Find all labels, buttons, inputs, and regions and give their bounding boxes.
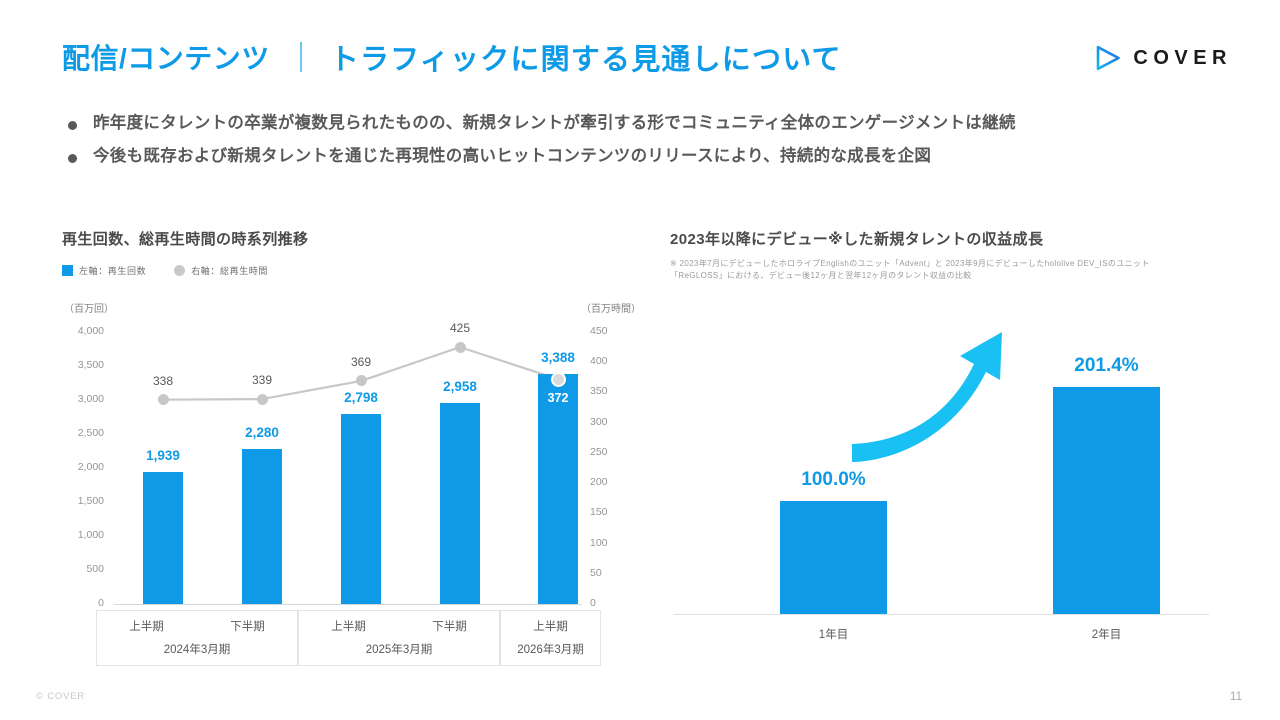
cover-logo: COVER <box>1094 44 1232 72</box>
y2-axis-tick: 350 <box>590 385 630 397</box>
slide-header: 配信/コンテンツ トラフィックに関する見通しについて COVER <box>0 0 1280 100</box>
right-chart-title: 2023年以降にデビュー※した新規タレントの収益成長 <box>670 228 1230 249</box>
x-axis-period-label: 下半期 <box>198 618 298 634</box>
bar-value-label: 3,388 <box>518 350 598 365</box>
x-axis-category-label: 2年目 <box>1027 626 1187 642</box>
y-axis-tick: 0 <box>62 597 104 609</box>
line-data-point <box>257 394 268 405</box>
bar-value-label: 100.0% <box>754 469 914 491</box>
y-axis-tick: 500 <box>62 563 104 575</box>
bullet-list: 昨年度にタレントの卒業が複数見られたものの、新規タレントが牽引する形でコミュニテ… <box>62 112 1222 179</box>
bar-value-label: 2,798 <box>321 390 401 405</box>
line-data-point <box>455 342 466 353</box>
bar <box>538 374 578 604</box>
growth-arrow-icon <box>850 330 1050 470</box>
bar <box>780 501 887 614</box>
title-category: 配信/コンテンツ <box>62 37 270 77</box>
line-value-label: 339 <box>227 373 297 387</box>
legend-circle-icon <box>174 265 185 276</box>
legend-item-watchtime: 右軸：総再生時間 <box>174 264 268 277</box>
bar <box>1053 387 1160 614</box>
page-title: 配信/コンテンツ トラフィックに関する見通しについて <box>62 36 842 78</box>
title-divider <box>300 42 302 72</box>
x-axis-category-label: 1年目 <box>754 626 914 642</box>
y-axis-tick: 3,000 <box>62 393 104 405</box>
legend-label: 左軸：再生回数 <box>79 264 146 277</box>
right-axis-unit: （百万時間） <box>581 300 641 315</box>
right-chart-footnote: ※ 2023年7月にデビューしたホロライブEnglishのユニット「Advent… <box>670 258 1190 283</box>
bullet-item: 今後も既存および新規タレントを通じた再現性の高いヒットコンテンツのリリースにより… <box>62 145 1222 168</box>
chart-baseline <box>674 614 1209 615</box>
bar <box>242 449 282 604</box>
bullet-text: 昨年度にタレントの卒業が複数見られたものの、新規タレントが牽引する形でコミュニテ… <box>93 112 1016 135</box>
left-chart-legend: 左軸：再生回数 右軸：総再生時間 <box>62 264 268 277</box>
y-axis-tick: 1,000 <box>62 529 104 541</box>
y-axis-tick: 2,500 <box>62 427 104 439</box>
line-value-label: 369 <box>326 355 396 369</box>
y2-axis-tick: 200 <box>590 476 630 488</box>
bar-value-label: 2,280 <box>222 425 302 440</box>
left-chart-title: 再生回数、総再生時間の時系列推移 <box>62 228 642 249</box>
bar <box>341 414 381 604</box>
y2-axis-tick: 150 <box>590 506 630 518</box>
bullet-text: 今後も既存および新規タレントを通じた再現性の高いヒットコンテンツのリリースにより… <box>93 145 931 168</box>
y2-axis-tick: 250 <box>590 446 630 458</box>
x-axis-period-label: 下半期 <box>400 618 500 634</box>
bar <box>143 472 183 604</box>
legend-item-playcount: 左軸：再生回数 <box>62 264 146 277</box>
line-value-label: 425 <box>425 321 495 335</box>
left-chart-x-axis: 上半期下半期2024年3月期上半期下半期2025年3月期上半期2026年3月期 <box>96 610 601 666</box>
logo-wordmark: COVER <box>1133 47 1232 70</box>
y2-axis-tick: 450 <box>590 325 630 337</box>
x-axis-period-label: 上半期 <box>501 618 601 634</box>
line-data-point <box>553 374 564 385</box>
bullet-item: 昨年度にタレントの卒業が複数見られたものの、新規タレントが牽引する形でコミュニテ… <box>62 112 1222 135</box>
line-data-point <box>356 375 367 386</box>
bar-value-label: 1,939 <box>123 448 203 463</box>
play-triangle-icon <box>1094 44 1122 72</box>
right-chart-panel: 2023年以降にデビュー※した新規タレントの収益成長 ※ 2023年7月にデビュ… <box>670 228 1230 658</box>
y2-axis-tick: 0 <box>590 597 630 609</box>
y-axis-tick: 2,000 <box>62 461 104 473</box>
left-chart-panel: 再生回数、総再生時間の時系列推移 左軸：再生回数 右軸：総再生時間 （百万回） … <box>62 228 642 658</box>
y-axis-tick: 4,000 <box>62 325 104 337</box>
y2-axis-tick: 100 <box>590 537 630 549</box>
y-axis-tick: 3,500 <box>62 359 104 371</box>
bar-value-label: 2,958 <box>420 379 500 394</box>
bullet-dot-icon <box>68 154 77 163</box>
legend-square-icon <box>62 265 73 276</box>
talent-revenue-growth-chart: 100.0%1年目201.4%2年目 <box>670 316 1215 656</box>
footer-copyright: © COVER <box>36 691 85 702</box>
playcount-watchtime-chart: （百万回） （百万時間） 4,0003,5003,0002,5002,0001,… <box>62 300 642 655</box>
legend-label: 右軸：総再生時間 <box>191 264 268 277</box>
y2-axis-tick: 300 <box>590 416 630 428</box>
footer-page-number: 11 <box>1230 691 1242 703</box>
bar <box>440 403 480 604</box>
x-axis-fiscal-year-label: 2024年3月期 <box>97 641 297 657</box>
title-subject: トラフィックに関する見通しについて <box>330 36 842 78</box>
chart-baseline <box>114 604 582 605</box>
x-axis-period-label: 上半期 <box>97 618 197 634</box>
line-value-label: 338 <box>128 374 198 388</box>
left-axis-unit: （百万回） <box>64 300 114 315</box>
line-data-point <box>158 394 169 405</box>
line-value-label: 372 <box>523 391 593 405</box>
y-axis-tick: 1,500 <box>62 495 104 507</box>
x-axis-fiscal-year-label: 2026年3月期 <box>451 641 651 657</box>
bar-value-label: 201.4% <box>1027 355 1187 377</box>
y2-axis-tick: 50 <box>590 567 630 579</box>
bullet-dot-icon <box>68 121 77 130</box>
x-axis-period-label: 上半期 <box>299 618 399 634</box>
